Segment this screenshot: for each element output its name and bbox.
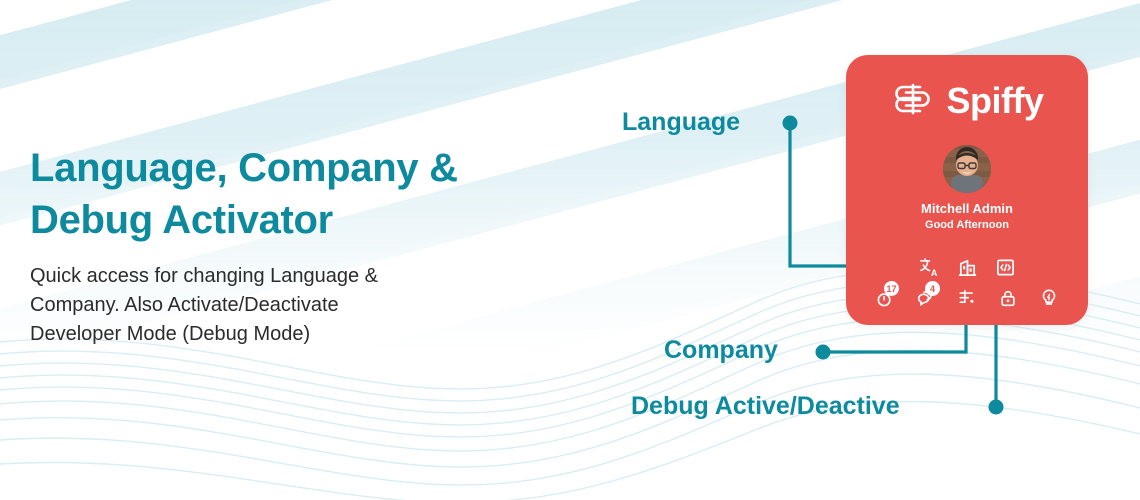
company-building-icon[interactable]	[956, 256, 978, 278]
connector-dot-debug	[989, 400, 1004, 415]
svg-text:A: A	[930, 268, 937, 278]
lock-icon[interactable]	[997, 287, 1019, 309]
quick-action-row-primary: A	[846, 256, 1088, 278]
activity-filter-icon[interactable]	[956, 287, 978, 309]
avatar[interactable]	[943, 145, 991, 193]
callout-label-company: Company	[664, 336, 778, 365]
user-name: Mitchell Admin	[846, 201, 1088, 216]
timesheet-badge: 17	[884, 281, 899, 296]
callout-label-debug: Debug Active/Deactive	[631, 392, 900, 421]
promo-banner: Language, Company & Debug Activator Quic…	[0, 0, 1140, 500]
callout-label-language: Language	[622, 108, 740, 137]
messages-icon[interactable]: 4	[915, 287, 937, 309]
brand-name: Spiffy	[946, 83, 1043, 119]
user-menu-card: Spiffy Mi	[846, 55, 1088, 325]
tips-lightbulb-icon[interactable]	[1038, 287, 1060, 309]
quick-action-row-secondary: 17 4	[846, 287, 1088, 309]
page-title: Language, Company & Debug Activator	[30, 142, 550, 246]
brand-lockup: Spiffy	[846, 75, 1088, 127]
greeting-text: Good Afternoon	[846, 219, 1088, 231]
spiffy-s-logo-icon	[890, 79, 936, 124]
connector-dot-language	[783, 116, 798, 131]
page-description: Quick access for changing Language & Com…	[30, 262, 490, 349]
messages-badge: 4	[925, 281, 940, 296]
debug-code-icon[interactable]	[994, 256, 1016, 278]
timesheet-timer-icon[interactable]: 17	[874, 287, 896, 309]
connector-dot-company	[816, 345, 831, 360]
translate-icon[interactable]: A	[918, 256, 940, 278]
